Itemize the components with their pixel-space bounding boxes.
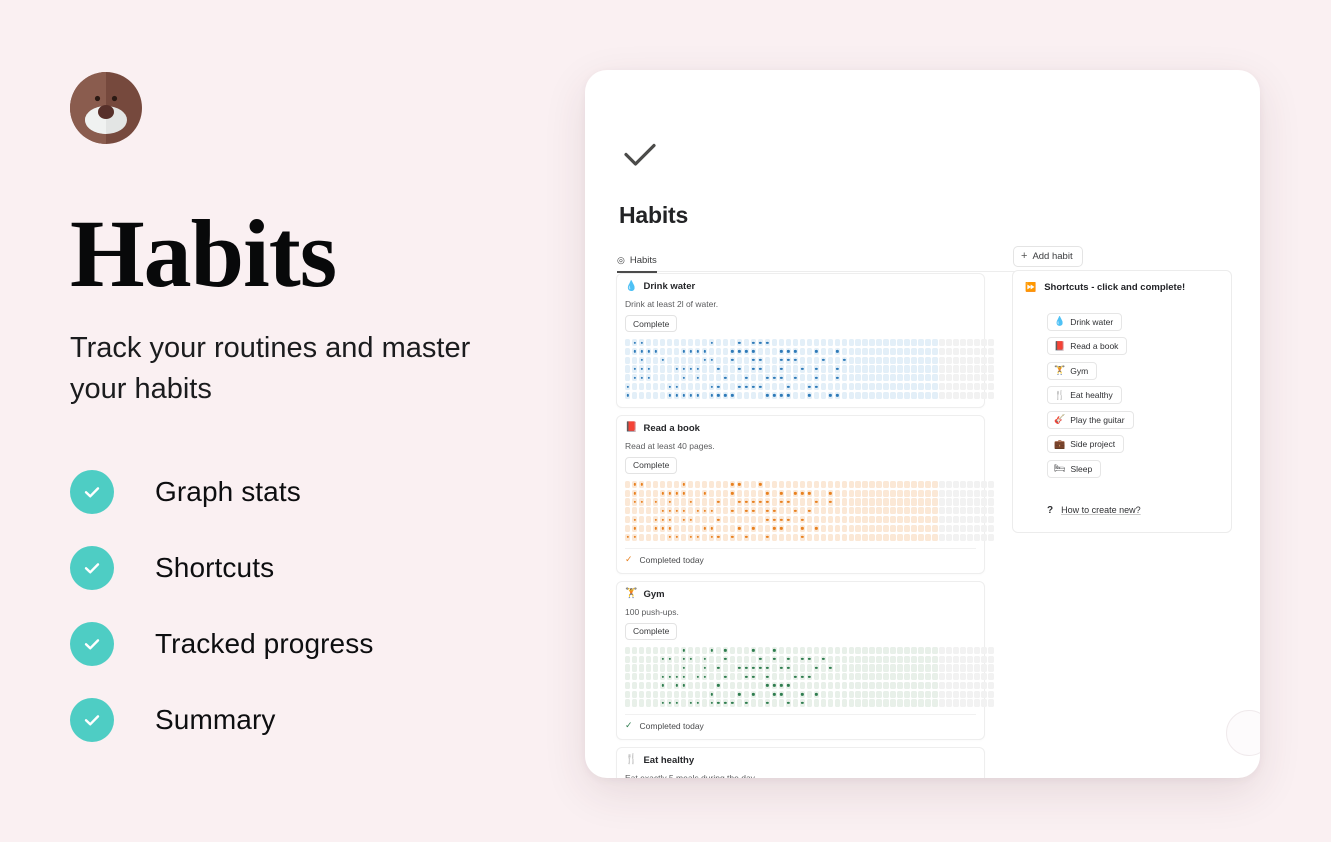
heatmap-cell[interactable] (625, 534, 630, 541)
heatmap-cell[interactable] (842, 534, 847, 541)
heatmap-cell[interactable] (890, 507, 895, 514)
heatmap-cell[interactable] (653, 525, 658, 532)
heatmap-cell[interactable] (632, 656, 637, 663)
heatmap-cell[interactable] (667, 699, 672, 706)
heatmap-cell[interactable] (667, 392, 672, 399)
heatmap-cell[interactable] (981, 525, 986, 532)
heatmap-cell[interactable] (688, 498, 693, 505)
heatmap-cell[interactable] (883, 664, 888, 671)
heatmap-cell[interactable] (639, 647, 644, 654)
heatmap-cell[interactable] (911, 498, 916, 505)
heatmap-cell[interactable] (646, 348, 651, 355)
heatmap-cell[interactable] (946, 682, 951, 689)
heatmap-cell[interactable] (730, 498, 735, 505)
heatmap-cell[interactable] (716, 516, 721, 523)
heatmap-cell[interactable] (939, 656, 944, 663)
heatmap-cell[interactable] (904, 348, 909, 355)
heatmap-cell[interactable] (939, 498, 944, 505)
heatmap-cell[interactable] (653, 490, 658, 497)
heatmap-cell[interactable] (765, 691, 770, 698)
heatmap-cell[interactable] (639, 516, 644, 523)
heatmap-cell[interactable] (904, 507, 909, 514)
heatmap-cell[interactable] (765, 534, 770, 541)
heatmap-cell[interactable] (828, 656, 833, 663)
heatmap-cell[interactable] (939, 357, 944, 364)
heatmap-cell[interactable] (702, 516, 707, 523)
heatmap-cell[interactable] (716, 481, 721, 488)
heatmap-cell[interactable] (667, 664, 672, 671)
heatmap-cell[interactable] (646, 339, 651, 346)
heatmap-cell[interactable] (751, 498, 756, 505)
heatmap-cell[interactable] (800, 490, 805, 497)
heatmap-cell[interactable] (849, 673, 854, 680)
heatmap-cell[interactable] (688, 365, 693, 372)
heatmap-cell[interactable] (855, 673, 860, 680)
heatmap-cell[interactable] (828, 357, 833, 364)
heatmap-cell[interactable] (904, 664, 909, 671)
heatmap-cell[interactable] (918, 647, 923, 654)
heatmap-cell[interactable] (702, 682, 707, 689)
heatmap-cell[interactable] (855, 534, 860, 541)
heatmap-cell[interactable] (765, 374, 770, 381)
heatmap-cell[interactable] (688, 383, 693, 390)
heatmap-cell[interactable] (793, 481, 798, 488)
heatmap-cell[interactable] (904, 490, 909, 497)
heatmap-cell[interactable] (946, 691, 951, 698)
heatmap-cell[interactable] (779, 525, 784, 532)
heatmap-cell[interactable] (702, 383, 707, 390)
heatmap-cell[interactable] (793, 673, 798, 680)
heatmap-cell[interactable] (702, 656, 707, 663)
heatmap-cell[interactable] (751, 534, 756, 541)
heatmap-cell[interactable] (709, 691, 714, 698)
heatmap-cell[interactable] (730, 490, 735, 497)
heatmap-cell[interactable] (842, 365, 847, 372)
heatmap-cell[interactable] (758, 498, 763, 505)
heatmap-cell[interactable] (695, 481, 700, 488)
heatmap-cell[interactable] (883, 490, 888, 497)
heatmap-cell[interactable] (849, 691, 854, 698)
heatmap-cell[interactable] (730, 682, 735, 689)
heatmap-cell[interactable] (897, 516, 902, 523)
heatmap-cell[interactable] (828, 490, 833, 497)
heatmap-cell[interactable] (946, 507, 951, 514)
heatmap-cell[interactable] (793, 691, 798, 698)
heatmap-cell[interactable] (925, 647, 930, 654)
heatmap-cell[interactable] (709, 490, 714, 497)
heatmap-cell[interactable] (730, 365, 735, 372)
heatmap-cell[interactable] (625, 647, 630, 654)
heatmap-cell[interactable] (737, 525, 742, 532)
heatmap-cell[interactable] (779, 365, 784, 372)
heatmap-cell[interactable] (709, 383, 714, 390)
heatmap-cell[interactable] (632, 339, 637, 346)
heatmap-cell[interactable] (828, 534, 833, 541)
heatmap-cell[interactable] (688, 673, 693, 680)
heatmap-cell[interactable] (765, 348, 770, 355)
heatmap-cell[interactable] (737, 691, 742, 698)
heatmap-cell[interactable] (849, 516, 854, 523)
heatmap-cell[interactable] (660, 699, 665, 706)
heatmap-cell[interactable] (625, 673, 630, 680)
heatmap-cell[interactable] (814, 673, 819, 680)
heatmap-cell[interactable] (897, 490, 902, 497)
heatmap-cell[interactable] (800, 664, 805, 671)
heatmap-cell[interactable] (751, 516, 756, 523)
heatmap-cell[interactable] (744, 691, 749, 698)
heatmap-cell[interactable] (883, 383, 888, 390)
heatmap-cell[interactable] (807, 682, 812, 689)
heatmap-cell[interactable] (988, 691, 993, 698)
heatmap-cell[interactable] (667, 365, 672, 372)
heatmap-cell[interactable] (925, 348, 930, 355)
heatmap-cell[interactable] (632, 673, 637, 680)
heatmap-cell[interactable] (849, 682, 854, 689)
heatmap-cell[interactable] (904, 656, 909, 663)
heatmap-cell[interactable] (786, 498, 791, 505)
heatmap-cell[interactable] (869, 481, 874, 488)
heatmap-cell[interactable] (786, 656, 791, 663)
heatmap-cell[interactable] (890, 664, 895, 671)
heatmap-cell[interactable] (632, 392, 637, 399)
heatmap-cell[interactable] (821, 365, 826, 372)
heatmap-cell[interactable] (660, 392, 665, 399)
heatmap-cell[interactable] (904, 374, 909, 381)
heatmap-cell[interactable] (869, 682, 874, 689)
heatmap-cell[interactable] (918, 673, 923, 680)
heatmap-cell[interactable] (918, 498, 923, 505)
heatmap-cell[interactable] (786, 682, 791, 689)
heatmap-cell[interactable] (716, 392, 721, 399)
heatmap-cell[interactable] (765, 699, 770, 706)
heatmap-cell[interactable] (807, 498, 812, 505)
heatmap-cell[interactable] (667, 691, 672, 698)
heatmap-cell[interactable] (800, 357, 805, 364)
heatmap-cell[interactable] (876, 525, 881, 532)
heatmap-cell[interactable] (653, 656, 658, 663)
heatmap-cell[interactable] (842, 647, 847, 654)
heatmap-cell[interactable] (981, 374, 986, 381)
heatmap-cell[interactable] (674, 498, 679, 505)
tab-habits[interactable]: ◎ Habits (617, 255, 657, 273)
heatmap-cell[interactable] (967, 507, 972, 514)
heatmap-cell[interactable] (786, 647, 791, 654)
heatmap-cell[interactable] (646, 498, 651, 505)
heatmap-cell[interactable] (681, 664, 686, 671)
heatmap-cell[interactable] (793, 664, 798, 671)
heatmap-cell[interactable] (779, 664, 784, 671)
heatmap-cell[interactable] (960, 647, 965, 654)
heatmap-cell[interactable] (674, 656, 679, 663)
heatmap-cell[interactable] (883, 699, 888, 706)
heatmap-cell[interactable] (737, 534, 742, 541)
heatmap-cell[interactable] (869, 691, 874, 698)
heatmap-cell[interactable] (730, 664, 735, 671)
heatmap-cell[interactable] (918, 339, 923, 346)
heatmap-cell[interactable] (639, 673, 644, 680)
heatmap-cell[interactable] (625, 339, 630, 346)
heatmap-cell[interactable] (953, 357, 958, 364)
heatmap-cell[interactable] (639, 534, 644, 541)
heatmap-cell[interactable] (639, 383, 644, 390)
heatmap-cell[interactable] (862, 383, 867, 390)
heatmap-cell[interactable] (751, 357, 756, 364)
heatmap-cell[interactable] (800, 339, 805, 346)
heatmap-cell[interactable] (793, 647, 798, 654)
heatmap-cell[interactable] (967, 691, 972, 698)
heatmap-cell[interactable] (702, 498, 707, 505)
heatmap-cell[interactable] (625, 383, 630, 390)
heatmap-cell[interactable] (849, 348, 854, 355)
heatmap-cell[interactable] (688, 534, 693, 541)
heatmap-cell[interactable] (744, 383, 749, 390)
heatmap-cell[interactable] (660, 656, 665, 663)
heatmap-cell[interactable] (639, 348, 644, 355)
heatmap-cell[interactable] (904, 647, 909, 654)
heatmap-cell[interactable] (681, 699, 686, 706)
heatmap-cell[interactable] (800, 656, 805, 663)
heatmap-cell[interactable] (932, 664, 937, 671)
heatmap-cell[interactable] (883, 507, 888, 514)
heatmap-cell[interactable] (974, 490, 979, 497)
heatmap-cell[interactable] (632, 481, 637, 488)
heatmap-cell[interactable] (786, 673, 791, 680)
heatmap-cell[interactable] (842, 490, 847, 497)
heatmap-cell[interactable] (765, 339, 770, 346)
heatmap-cell[interactable] (939, 534, 944, 541)
heatmap-cell[interactable] (758, 664, 763, 671)
heatmap-cell[interactable] (897, 383, 902, 390)
heatmap-cell[interactable] (855, 339, 860, 346)
heatmap-cell[interactable] (807, 348, 812, 355)
heatmap-cell[interactable] (779, 699, 784, 706)
heatmap-cell[interactable] (981, 507, 986, 514)
heatmap-cell[interactable] (625, 664, 630, 671)
heatmap-cell[interactable] (855, 525, 860, 532)
heatmap-cell[interactable] (974, 673, 979, 680)
heatmap-cell[interactable] (890, 516, 895, 523)
heatmap-cell[interactable] (667, 525, 672, 532)
heatmap-cell[interactable] (897, 691, 902, 698)
heatmap-cell[interactable] (639, 357, 644, 364)
heatmap-cell[interactable] (862, 348, 867, 355)
heatmap-cell[interactable] (939, 525, 944, 532)
heatmap-cell[interactable] (849, 392, 854, 399)
heatmap-cell[interactable] (925, 481, 930, 488)
heatmap-cell[interactable] (855, 392, 860, 399)
heatmap-cell[interactable] (786, 339, 791, 346)
heatmap-cell[interactable] (779, 507, 784, 514)
heatmap-cell[interactable] (674, 673, 679, 680)
heatmap-cell[interactable] (744, 339, 749, 346)
heatmap-cell[interactable] (862, 481, 867, 488)
shortcut-chip-play-the-guitar[interactable]: 🎸 Play the guitar (1047, 411, 1134, 429)
heatmap-cell[interactable] (702, 357, 707, 364)
heatmap-cell[interactable] (709, 507, 714, 514)
heatmap-cell[interactable] (744, 699, 749, 706)
heatmap-cell[interactable] (772, 392, 777, 399)
heatmap-cell[interactable] (730, 699, 735, 706)
heatmap-cell[interactable] (876, 490, 881, 497)
heatmap-cell[interactable] (688, 507, 693, 514)
heatmap-cell[interactable] (883, 339, 888, 346)
shortcut-chip-sleep[interactable]: 🛏 Sleep (1047, 460, 1101, 478)
heatmap-cell[interactable] (876, 357, 881, 364)
heatmap-cell[interactable] (835, 673, 840, 680)
heatmap-cell[interactable] (988, 498, 993, 505)
heatmap-cell[interactable] (793, 534, 798, 541)
heatmap-cell[interactable] (758, 534, 763, 541)
heatmap-cell[interactable] (688, 374, 693, 381)
heatmap-cell[interactable] (981, 392, 986, 399)
heatmap-cell[interactable] (974, 383, 979, 390)
heatmap-cell[interactable] (835, 525, 840, 532)
heatmap-cell[interactable] (946, 673, 951, 680)
heatmap-cell[interactable] (904, 691, 909, 698)
heatmap-cell[interactable] (702, 647, 707, 654)
habit-card-eat-healthy[interactable]: 🍴 Eat healthy Eat exactly 5 meals during… (616, 747, 985, 778)
heatmap-cell[interactable] (786, 348, 791, 355)
heatmap-cell[interactable] (667, 534, 672, 541)
heatmap-cell[interactable] (688, 516, 693, 523)
heatmap-cell[interactable] (960, 481, 965, 488)
heatmap-cell[interactable] (876, 348, 881, 355)
heatmap-cell[interactable] (953, 481, 958, 488)
heatmap-cell[interactable] (988, 699, 993, 706)
heatmap-cell[interactable] (897, 673, 902, 680)
heatmap-cell[interactable] (646, 357, 651, 364)
heatmap-cell[interactable] (890, 673, 895, 680)
heatmap-cell[interactable] (946, 481, 951, 488)
heatmap-cell[interactable] (855, 348, 860, 355)
heatmap-cell[interactable] (932, 481, 937, 488)
heatmap-cell[interactable] (939, 374, 944, 381)
heatmap-cell[interactable] (939, 490, 944, 497)
heatmap-cell[interactable] (744, 507, 749, 514)
heatmap-cell[interactable] (876, 656, 881, 663)
heatmap-cell[interactable] (862, 664, 867, 671)
heatmap-cell[interactable] (786, 691, 791, 698)
heatmap-cell[interactable] (988, 374, 993, 381)
heatmap-cell[interactable] (660, 664, 665, 671)
heatmap-cell[interactable] (709, 516, 714, 523)
heatmap-cell[interactable] (960, 339, 965, 346)
heatmap-cell[interactable] (946, 383, 951, 390)
heatmap-cell[interactable] (632, 357, 637, 364)
heatmap-cell[interactable] (730, 357, 735, 364)
heatmap-cell[interactable] (695, 647, 700, 654)
heatmap-cell[interactable] (646, 490, 651, 497)
heatmap-cell[interactable] (828, 699, 833, 706)
heatmap-cell[interactable] (946, 348, 951, 355)
heatmap-cell[interactable] (883, 481, 888, 488)
heatmap-cell[interactable] (960, 365, 965, 372)
heatmap-cell[interactable] (807, 656, 812, 663)
heatmap-cell[interactable] (632, 699, 637, 706)
heatmap-cell[interactable] (939, 664, 944, 671)
heatmap-cell[interactable] (709, 534, 714, 541)
heatmap-cell[interactable] (862, 525, 867, 532)
heatmap-cell[interactable] (869, 673, 874, 680)
heatmap-cell[interactable] (911, 647, 916, 654)
heatmap-cell[interactable] (855, 374, 860, 381)
heatmap-cell[interactable] (876, 374, 881, 381)
heatmap-cell[interactable] (744, 498, 749, 505)
heatmap-cell[interactable] (744, 516, 749, 523)
heatmap-cell[interactable] (632, 383, 637, 390)
heatmap-cell[interactable] (646, 699, 651, 706)
heatmap-cell[interactable] (730, 392, 735, 399)
heatmap-cell[interactable] (793, 507, 798, 514)
heatmap-cell[interactable] (793, 365, 798, 372)
heatmap-cell[interactable] (953, 490, 958, 497)
heatmap-cell[interactable] (660, 383, 665, 390)
heatmap-cell[interactable] (828, 339, 833, 346)
heatmap-cell[interactable] (953, 691, 958, 698)
heatmap-cell[interactable] (681, 534, 686, 541)
heatmap-cell[interactable] (765, 490, 770, 497)
heatmap-cell[interactable] (793, 392, 798, 399)
heatmap-cell[interactable] (988, 348, 993, 355)
heatmap-cell[interactable] (911, 656, 916, 663)
heatmap-cell[interactable] (953, 365, 958, 372)
heatmap-cell[interactable] (869, 525, 874, 532)
heatmap-cell[interactable] (625, 656, 630, 663)
heatmap-cell[interactable] (702, 525, 707, 532)
heatmap-cell[interactable] (828, 481, 833, 488)
heatmap-cell[interactable] (911, 348, 916, 355)
heatmap-cell[interactable] (967, 516, 972, 523)
heatmap-cell[interactable] (667, 647, 672, 654)
heatmap-cell[interactable] (897, 392, 902, 399)
heatmap-cell[interactable] (862, 374, 867, 381)
heatmap-cell[interactable] (695, 507, 700, 514)
heatmap-cell[interactable] (953, 383, 958, 390)
heatmap-cell[interactable] (737, 383, 742, 390)
heatmap-cell[interactable] (890, 534, 895, 541)
heatmap-cell[interactable] (765, 392, 770, 399)
heatmap-cell[interactable] (876, 507, 881, 514)
heatmap-cell[interactable] (723, 348, 728, 355)
heatmap-cell[interactable] (723, 673, 728, 680)
heatmap-cell[interactable] (988, 339, 993, 346)
heatmap-cell[interactable] (835, 647, 840, 654)
heatmap-cell[interactable] (918, 383, 923, 390)
heatmap-cell[interactable] (911, 365, 916, 372)
heatmap-cell[interactable] (779, 481, 784, 488)
heatmap-cell[interactable] (988, 490, 993, 497)
heatmap-cell[interactable] (772, 516, 777, 523)
heatmap-cell[interactable] (946, 339, 951, 346)
heatmap-cell[interactable] (828, 525, 833, 532)
heatmap-cell[interactable] (821, 516, 826, 523)
heatmap-cell[interactable] (862, 516, 867, 523)
heatmap-cell[interactable] (904, 525, 909, 532)
heatmap-cell[interactable] (981, 339, 986, 346)
heatmap-cell[interactable] (821, 490, 826, 497)
heatmap-cell[interactable] (653, 673, 658, 680)
heatmap-cell[interactable] (974, 525, 979, 532)
heatmap-cell[interactable] (688, 664, 693, 671)
heatmap-cell[interactable] (960, 516, 965, 523)
heatmap-cell[interactable] (821, 339, 826, 346)
heatmap-cell[interactable] (751, 647, 756, 654)
heatmap-cell[interactable] (667, 357, 672, 364)
heatmap-cell[interactable] (932, 339, 937, 346)
heatmap-cell[interactable] (758, 647, 763, 654)
heatmap-cell[interactable] (667, 507, 672, 514)
heatmap-cell[interactable] (890, 339, 895, 346)
